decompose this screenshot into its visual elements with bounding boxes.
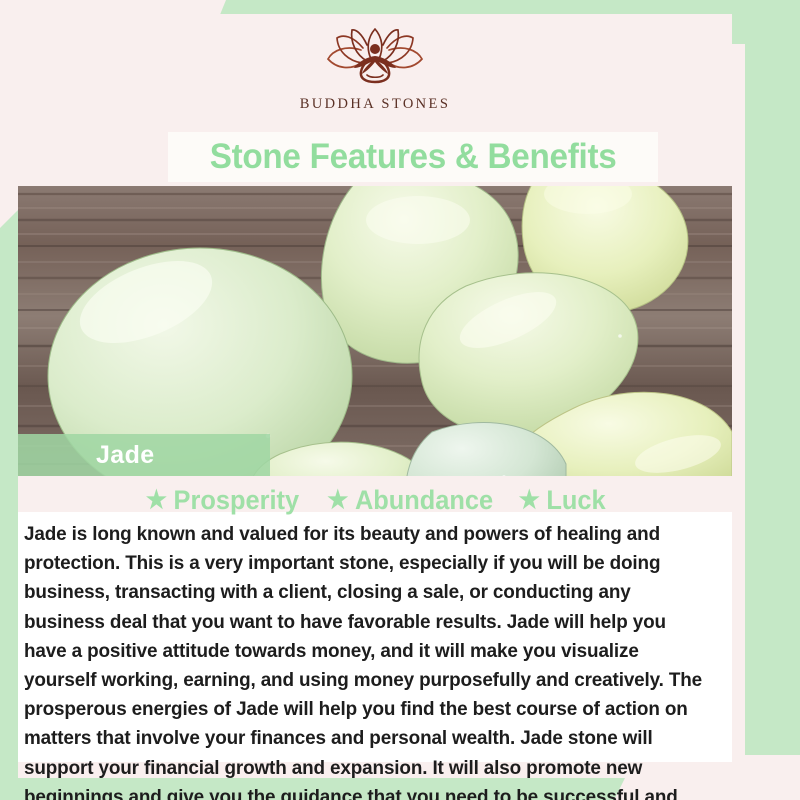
brand-header: BUDDHA STONES: [18, 14, 732, 124]
card-surface: BUDDHA STONES: [18, 14, 732, 778]
stone-name-chip: Jade: [18, 434, 270, 476]
description-panel: Jade is long known and valued for its be…: [18, 512, 732, 762]
benefit-label: Luck: [547, 485, 606, 516]
section-title-band: Stone Features & Benefits: [168, 132, 658, 182]
brand-wordmark: BUDDHA STONES: [300, 96, 451, 113]
benefit-item-prosperity: ★ Prosperity: [146, 485, 299, 516]
lotus-meditation-icon: [315, 28, 435, 90]
benefits-list: ★ Prosperity ★ Abundance ★ Luck: [18, 480, 732, 520]
page-title: Stone Features & Benefits: [210, 137, 617, 177]
star-icon: ★: [327, 488, 348, 513]
benefit-label: Prosperity: [174, 485, 300, 516]
benefit-item-luck: ★ Luck: [519, 485, 606, 516]
star-icon: ★: [519, 488, 540, 513]
star-icon: ★: [146, 488, 167, 513]
description-text: Jade is long known and valued for its be…: [24, 520, 703, 800]
benefit-label: Abundance: [355, 485, 493, 516]
stone-name: Jade: [96, 441, 155, 470]
benefit-item-abundance: ★ Abundance: [327, 485, 493, 516]
frame-accent-right: [745, 0, 800, 755]
stone-photo: Jade: [18, 186, 732, 476]
